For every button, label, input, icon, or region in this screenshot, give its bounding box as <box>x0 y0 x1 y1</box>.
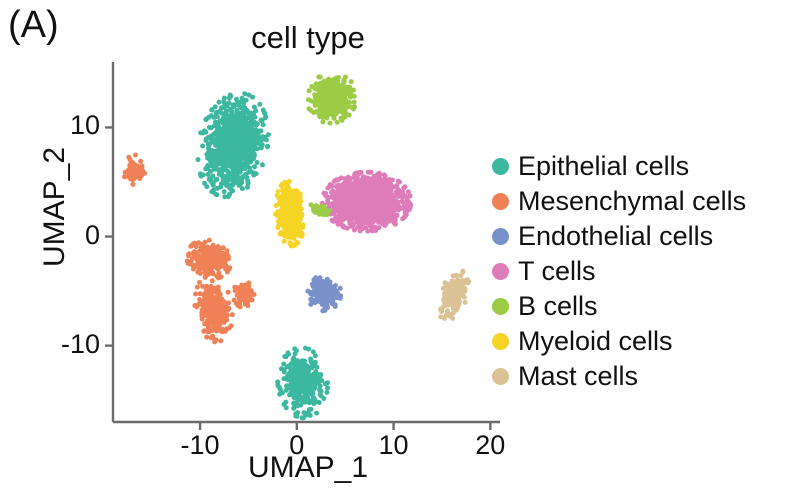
legend-item-label: Endothelial cells <box>518 223 713 250</box>
cluster-mast-cells <box>438 269 471 321</box>
legend-item-label: Epithelial cells <box>518 153 689 180</box>
y-axis-label: UMAP_2 <box>38 92 72 322</box>
legend-color-swatch <box>492 333 509 350</box>
legend-item[interactable]: Mesenchymal cells <box>492 185 746 217</box>
legend-item[interactable]: Epithelial cells <box>492 150 746 182</box>
legend-color-swatch <box>492 298 509 315</box>
legend-item-label: Myeloid cells <box>518 328 673 355</box>
legend-color-swatch <box>492 193 509 210</box>
scatter-points-layer <box>122 75 471 421</box>
legend-item-label: Mesenchymal cells <box>518 188 746 215</box>
legend-color-swatch <box>492 263 509 280</box>
legend-item-label: Mast cells <box>518 363 638 390</box>
legend-item[interactable]: T cells <box>492 255 746 287</box>
figure-panel: (A) cell type -1001020 100-10 UMAP_1 UMA… <box>0 0 800 501</box>
legend-item[interactable]: Myeloid cells <box>492 325 746 357</box>
legend-item-label: T cells <box>518 258 596 285</box>
legend: Epithelial cellsMesenchymal cellsEndothe… <box>492 150 746 392</box>
legend-item[interactable]: B cells <box>492 290 746 322</box>
legend-color-swatch <box>492 228 509 245</box>
legend-item[interactable]: Mast cells <box>492 360 746 392</box>
x-axis-label: UMAP_1 <box>113 451 503 485</box>
cluster-t-cells <box>320 170 413 234</box>
legend-color-swatch <box>492 368 509 385</box>
legend-item-label: B cells <box>518 293 598 320</box>
legend-color-swatch <box>492 158 509 175</box>
cluster-myeloid-cells <box>273 179 305 249</box>
cluster-endothelial-cells <box>305 275 343 313</box>
y-tick-label: -10 <box>0 329 100 360</box>
legend-item[interactable]: Endothelial cells <box>492 220 746 252</box>
